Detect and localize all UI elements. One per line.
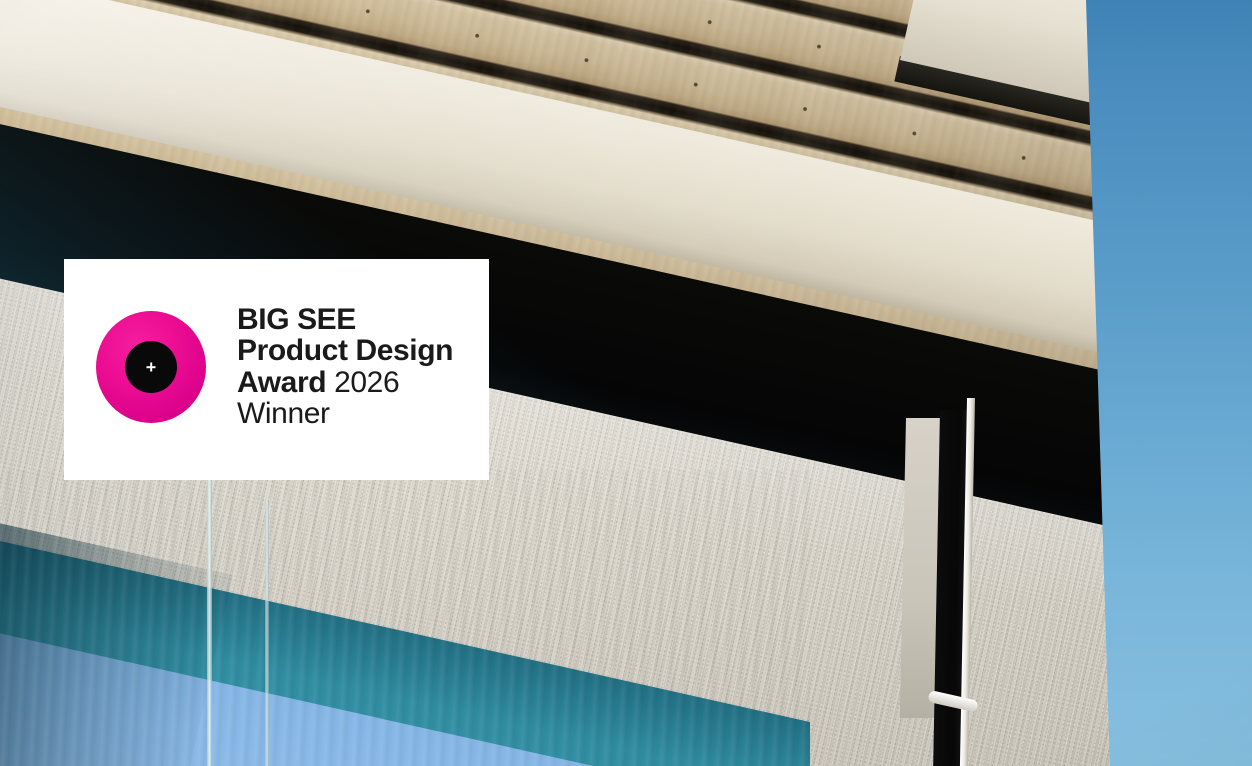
glass-mullion-secondary [265, 500, 269, 766]
glass-curtain-wall [0, 470, 810, 766]
screenshot-root: BIG SEE Product Design Award 2026 Winner [0, 0, 1252, 766]
badge-line-2-bold: Product Design [237, 334, 453, 367]
badge-line-1-bold: BIG SEE [237, 303, 356, 336]
award-badge-text: BIG SEE Product Design Award 2026 Winner [237, 304, 453, 429]
big-see-eye-icon [96, 311, 206, 423]
badge-line-4: Winner [237, 398, 453, 429]
badge-line-3-bold: Award [237, 366, 326, 399]
glass-ripple-texture [0, 470, 810, 766]
badge-line-3: Award 2026 [237, 367, 453, 398]
badge-line-4-status: Winner [237, 397, 330, 430]
badge-line-2: Product Design [237, 335, 453, 366]
badge-line-1: BIG SEE [237, 304, 453, 335]
award-badge: BIG SEE Product Design Award 2026 Winner [64, 259, 489, 480]
badge-line-3-year: 2026 [334, 366, 399, 399]
glass-mullion-primary [207, 470, 212, 766]
eye-pupil-icon [125, 341, 177, 393]
